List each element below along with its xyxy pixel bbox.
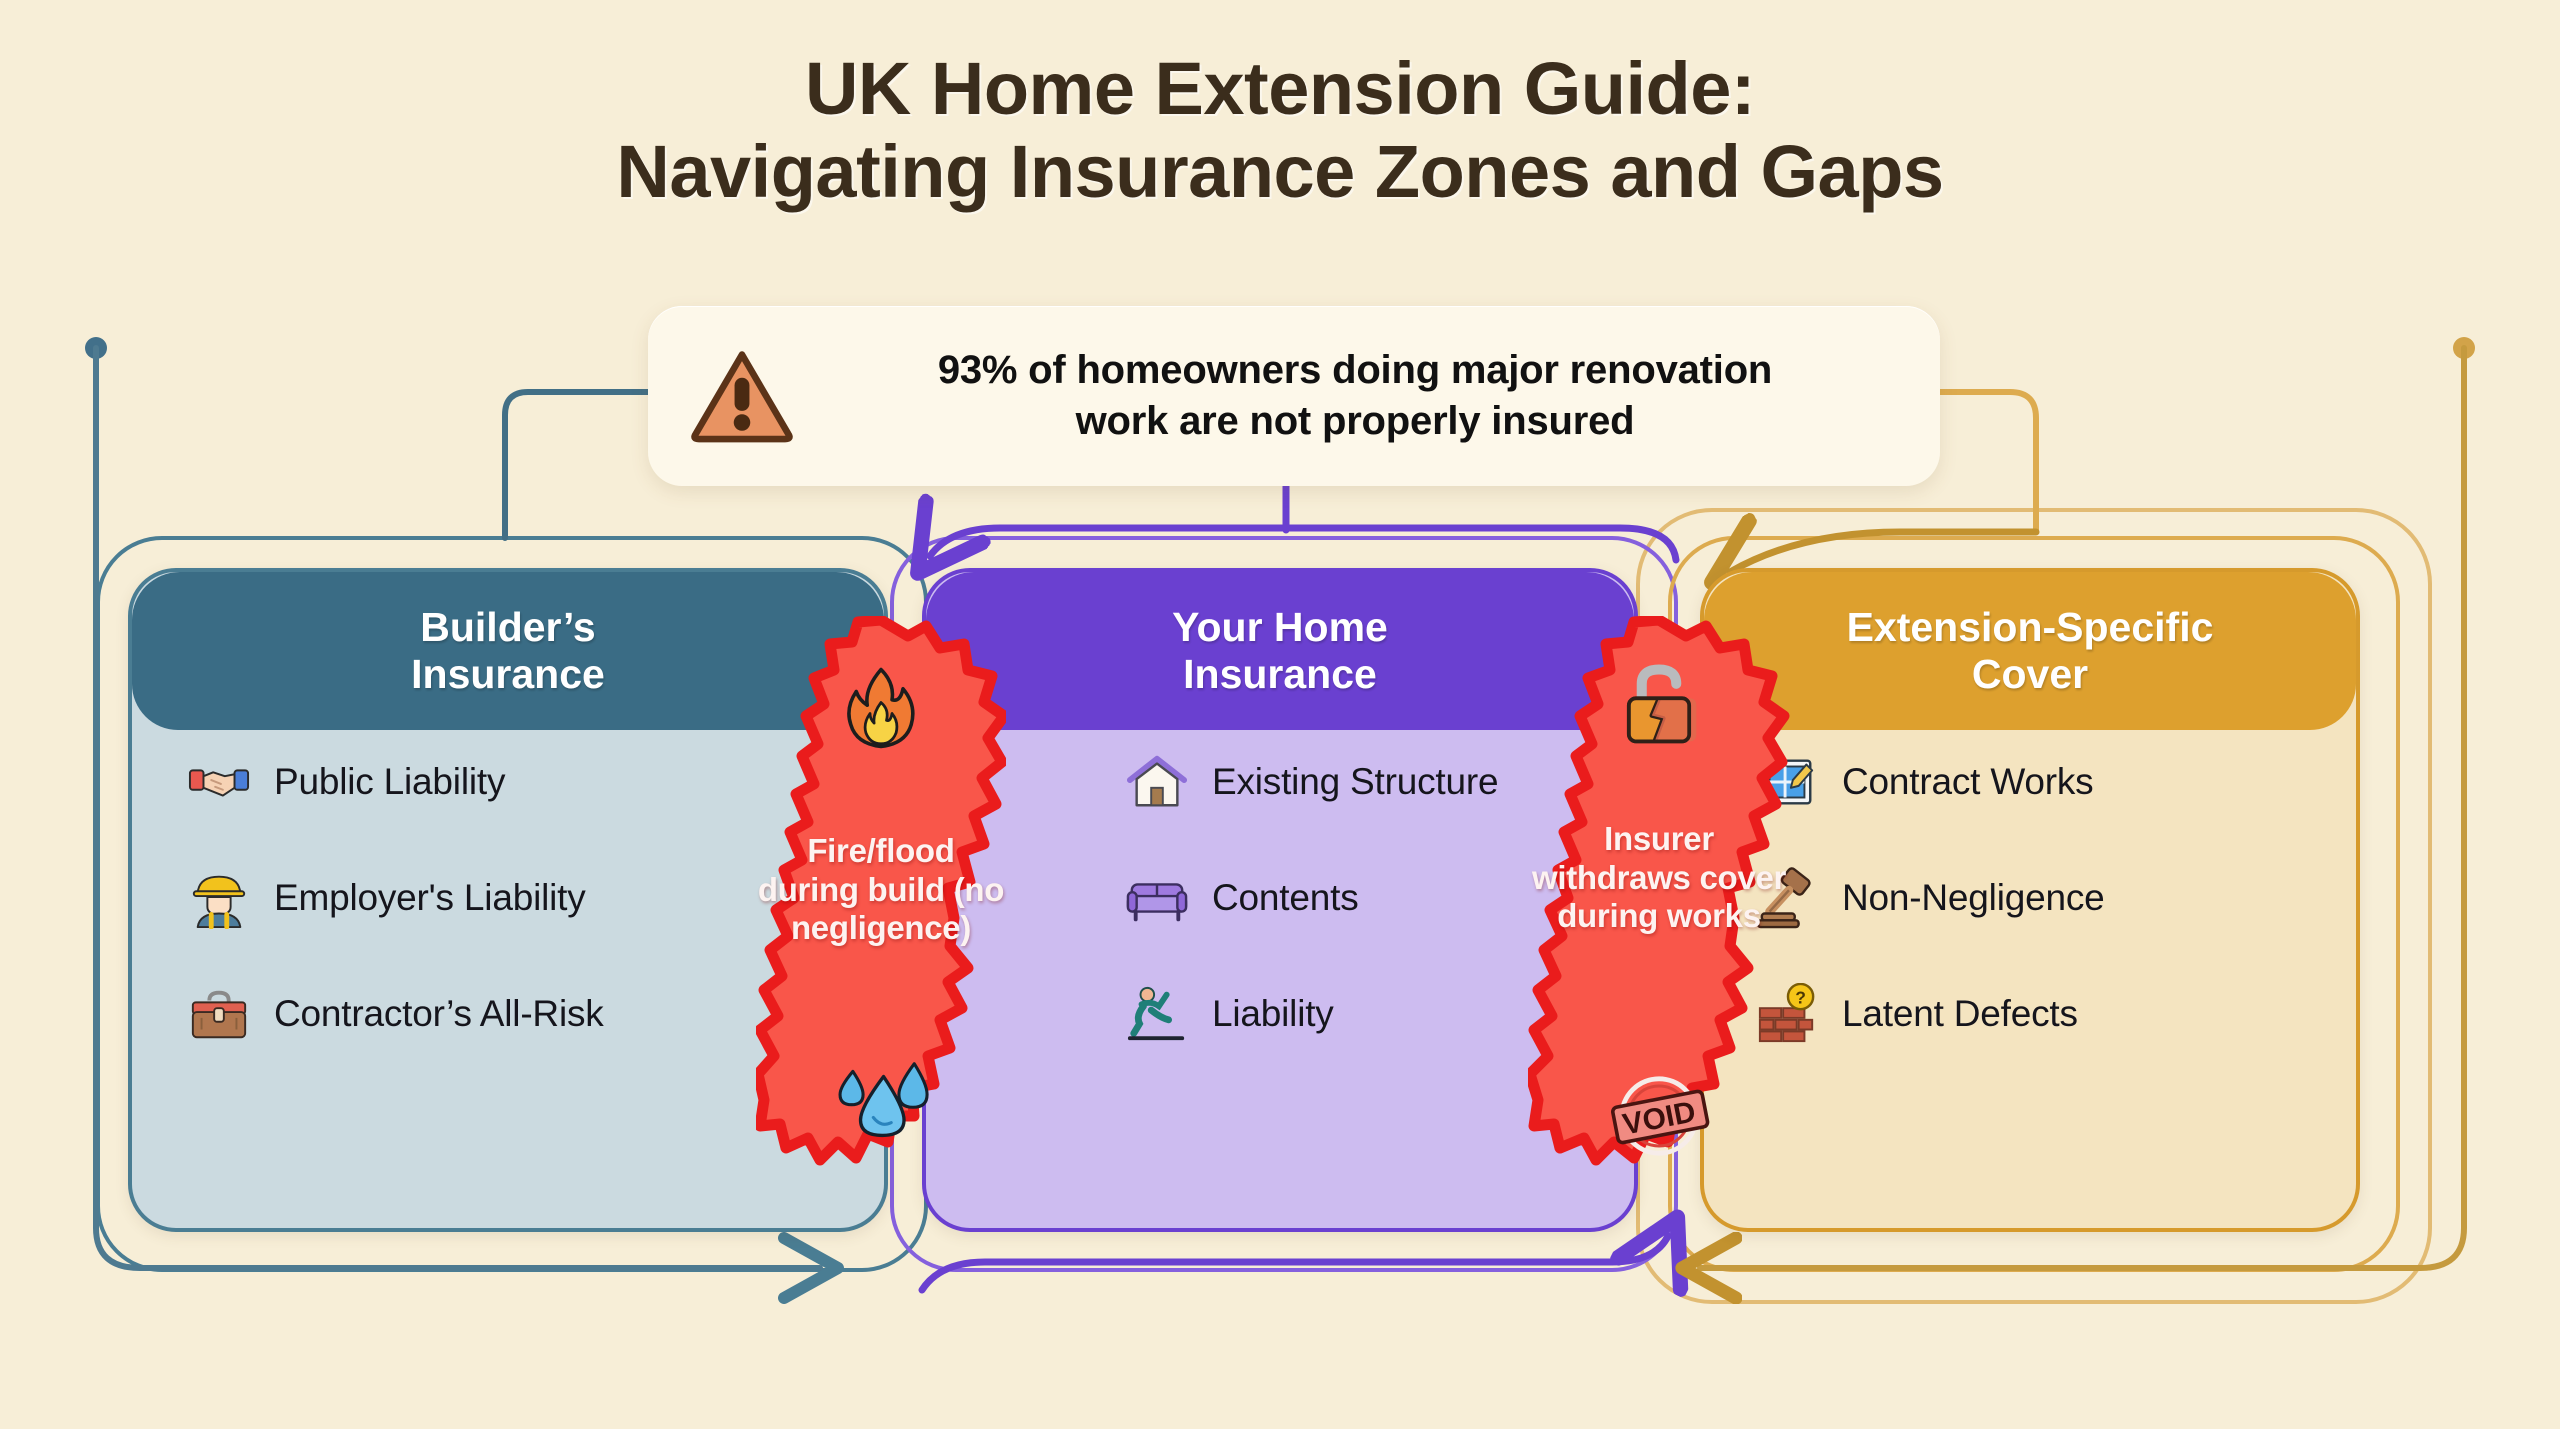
toolbox-icon	[188, 983, 250, 1045]
wire-home-bottom	[922, 1236, 1668, 1290]
gap-label: Insurer withdraws cover during works	[1528, 820, 1790, 936]
panel-home-title-line2: Insurance	[1183, 651, 1377, 697]
list-item-label: Contents	[1212, 877, 1359, 919]
svg-text:?: ?	[1795, 987, 1806, 1007]
gap-fire-flood[interactable]: Fire/flood during build (no negligence)	[756, 616, 1006, 1212]
handshake-icon	[188, 751, 250, 813]
panel-home-title-line1: Your Home	[1172, 604, 1388, 650]
panel-extension-specific-cover[interactable]: Extension-Specific Cover Contract Works	[1700, 568, 2360, 1232]
list-item[interactable]: Contract Works	[1756, 747, 2340, 817]
water-droplets-icon	[817, 1056, 945, 1138]
fire-icon	[837, 664, 925, 752]
panel-builders-title-line1: Builder’s	[420, 604, 595, 650]
wire-home-top	[930, 486, 1676, 560]
list-item-label: Existing Structure	[1212, 761, 1498, 803]
gap-label: Fire/flood during build (no negligence)	[756, 832, 1006, 948]
list-item-label: Non-Negligence	[1842, 877, 2105, 919]
person-slipping-icon	[1126, 983, 1188, 1045]
alert-banner-text: 93% of homeowners doing major renovation…	[826, 345, 1900, 447]
list-item-label: Employer's Liability	[274, 877, 586, 919]
panel-extension-header: Extension-Specific Cover	[1704, 572, 2356, 730]
list-item-label: Contract Works	[1842, 761, 2093, 803]
list-item-label: Public Liability	[274, 761, 505, 803]
construction-worker-icon	[188, 867, 250, 929]
list-item-label: Contractor’s All-Risk	[274, 993, 604, 1035]
gap-insurer-withdraws[interactable]: Insurer withdraws cover during works VOI…	[1528, 616, 1790, 1212]
house-icon	[1126, 751, 1188, 813]
couch-icon	[1126, 867, 1188, 929]
panel-extension-list: Contract Works Non-Negligence	[1704, 747, 2356, 1095]
alert-banner: 93% of homeowners doing major renovation…	[648, 306, 1940, 486]
list-item[interactable]: ? Latent Defects	[1756, 979, 2340, 1049]
panel-builders-title-line2: Insurance	[411, 651, 605, 697]
wire-extension-top	[1940, 392, 2036, 532]
list-item-label: Liability	[1212, 993, 1334, 1035]
void-stamp-icon: VOID	[1593, 1068, 1725, 1164]
list-item-label: Latent Defects	[1842, 993, 2078, 1035]
wire-extension-top-arrow	[1730, 532, 2036, 572]
warning-triangle-icon	[688, 348, 796, 444]
infographic-canvas: UK Home Extension Guide: Navigating Insu…	[0, 0, 2560, 1429]
alert-line-1: 93% of homeowners doing major renovation	[938, 348, 1772, 392]
list-item[interactable]: Non-Negligence	[1756, 863, 2340, 933]
broken-unlocked-padlock-icon	[1613, 658, 1705, 750]
wire-builder-top	[505, 392, 648, 538]
alert-line-2: work are not properly insured	[1076, 399, 1635, 443]
panel-extension-title-line2: Cover	[1972, 651, 2088, 697]
panel-extension-title-line1: Extension-Specific	[1847, 604, 2214, 650]
